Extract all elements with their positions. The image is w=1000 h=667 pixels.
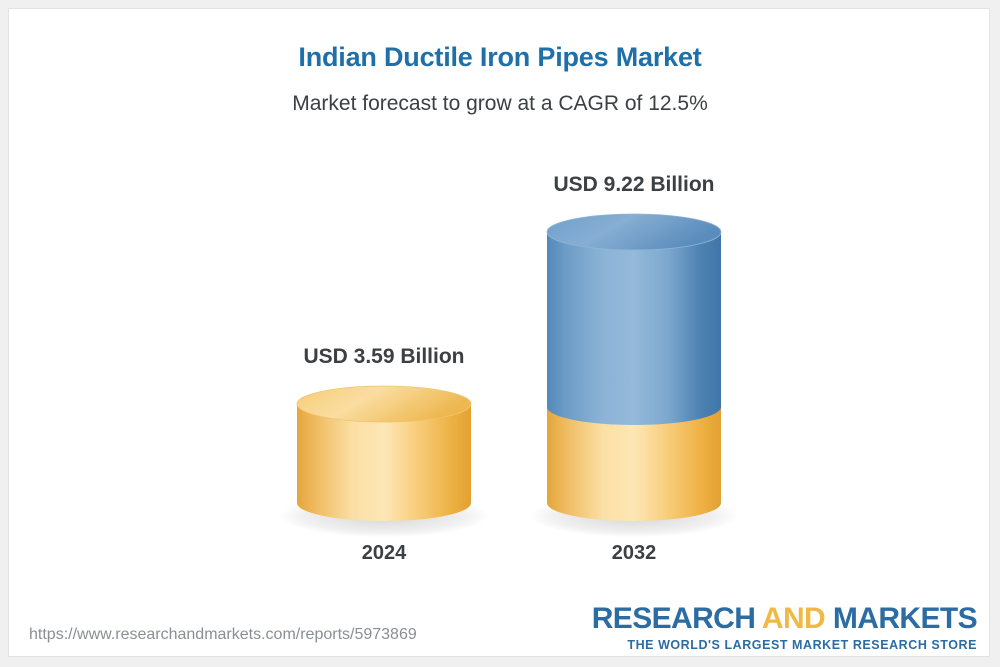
logo-word-markets: MARKETS bbox=[833, 602, 977, 635]
plot-area: USD 3.59 Billion 2024 bbox=[9, 9, 990, 657]
logo-word-and: AND bbox=[762, 602, 825, 635]
bar-category-label-2024: 2024 bbox=[284, 542, 484, 565]
bar-cylinder-2024[interactable] bbox=[289, 378, 479, 530]
bar-cylinder-2032[interactable] bbox=[539, 206, 729, 530]
logo-tagline: THE WORLD'S LARGEST MARKET RESEARCH STOR… bbox=[592, 639, 977, 652]
bar-value-label-2024: USD 3.59 Billion bbox=[284, 345, 484, 369]
logo-wordmark: RESEARCH AND MARKETS bbox=[592, 604, 977, 634]
bar-category-label-2032: 2032 bbox=[534, 542, 734, 565]
bar-value-label-2032: USD 9.22 Billion bbox=[534, 173, 734, 197]
chart-canvas: Indian Ductile Iron Pipes Market Market … bbox=[8, 8, 990, 657]
research-and-markets-logo[interactable]: RESEARCH AND MARKETS THE WORLD'S LARGEST… bbox=[592, 604, 977, 652]
source-url[interactable]: https://www.researchandmarkets.com/repor… bbox=[29, 626, 417, 644]
logo-word-research: RESEARCH bbox=[592, 602, 756, 635]
